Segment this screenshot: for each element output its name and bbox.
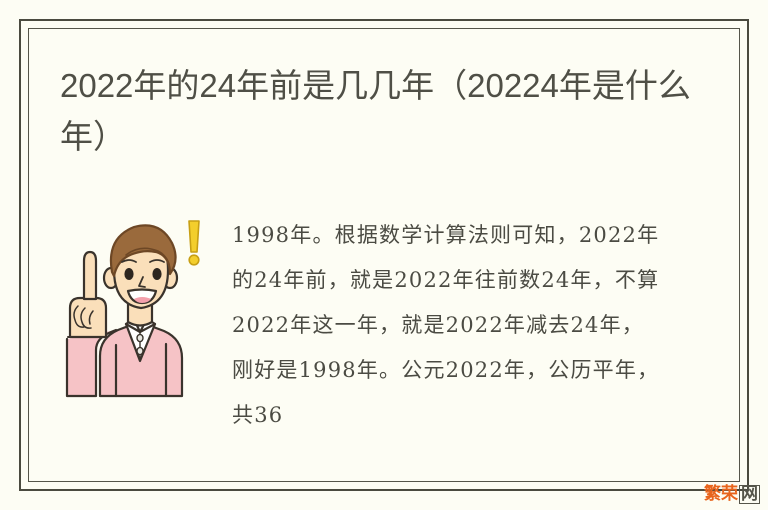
article-body: 1998年。根据数学计算法则可知，2022年的24年前，就是2022年往前数24…	[232, 213, 662, 438]
watermark-boxed-char: 网	[739, 485, 760, 504]
illustration-container	[56, 198, 208, 398]
article-page: 2022年的24年前是几几年（20224年是什么年）	[0, 0, 768, 510]
cartoon-boy-pointing-up-icon	[56, 198, 208, 398]
page-title: 2022年的24年前是几几年（20224年是什么年）	[60, 60, 710, 162]
watermark-text: 繁荣	[704, 484, 738, 504]
exclamation-icon	[189, 221, 199, 265]
site-watermark: 繁荣 网	[704, 484, 760, 504]
